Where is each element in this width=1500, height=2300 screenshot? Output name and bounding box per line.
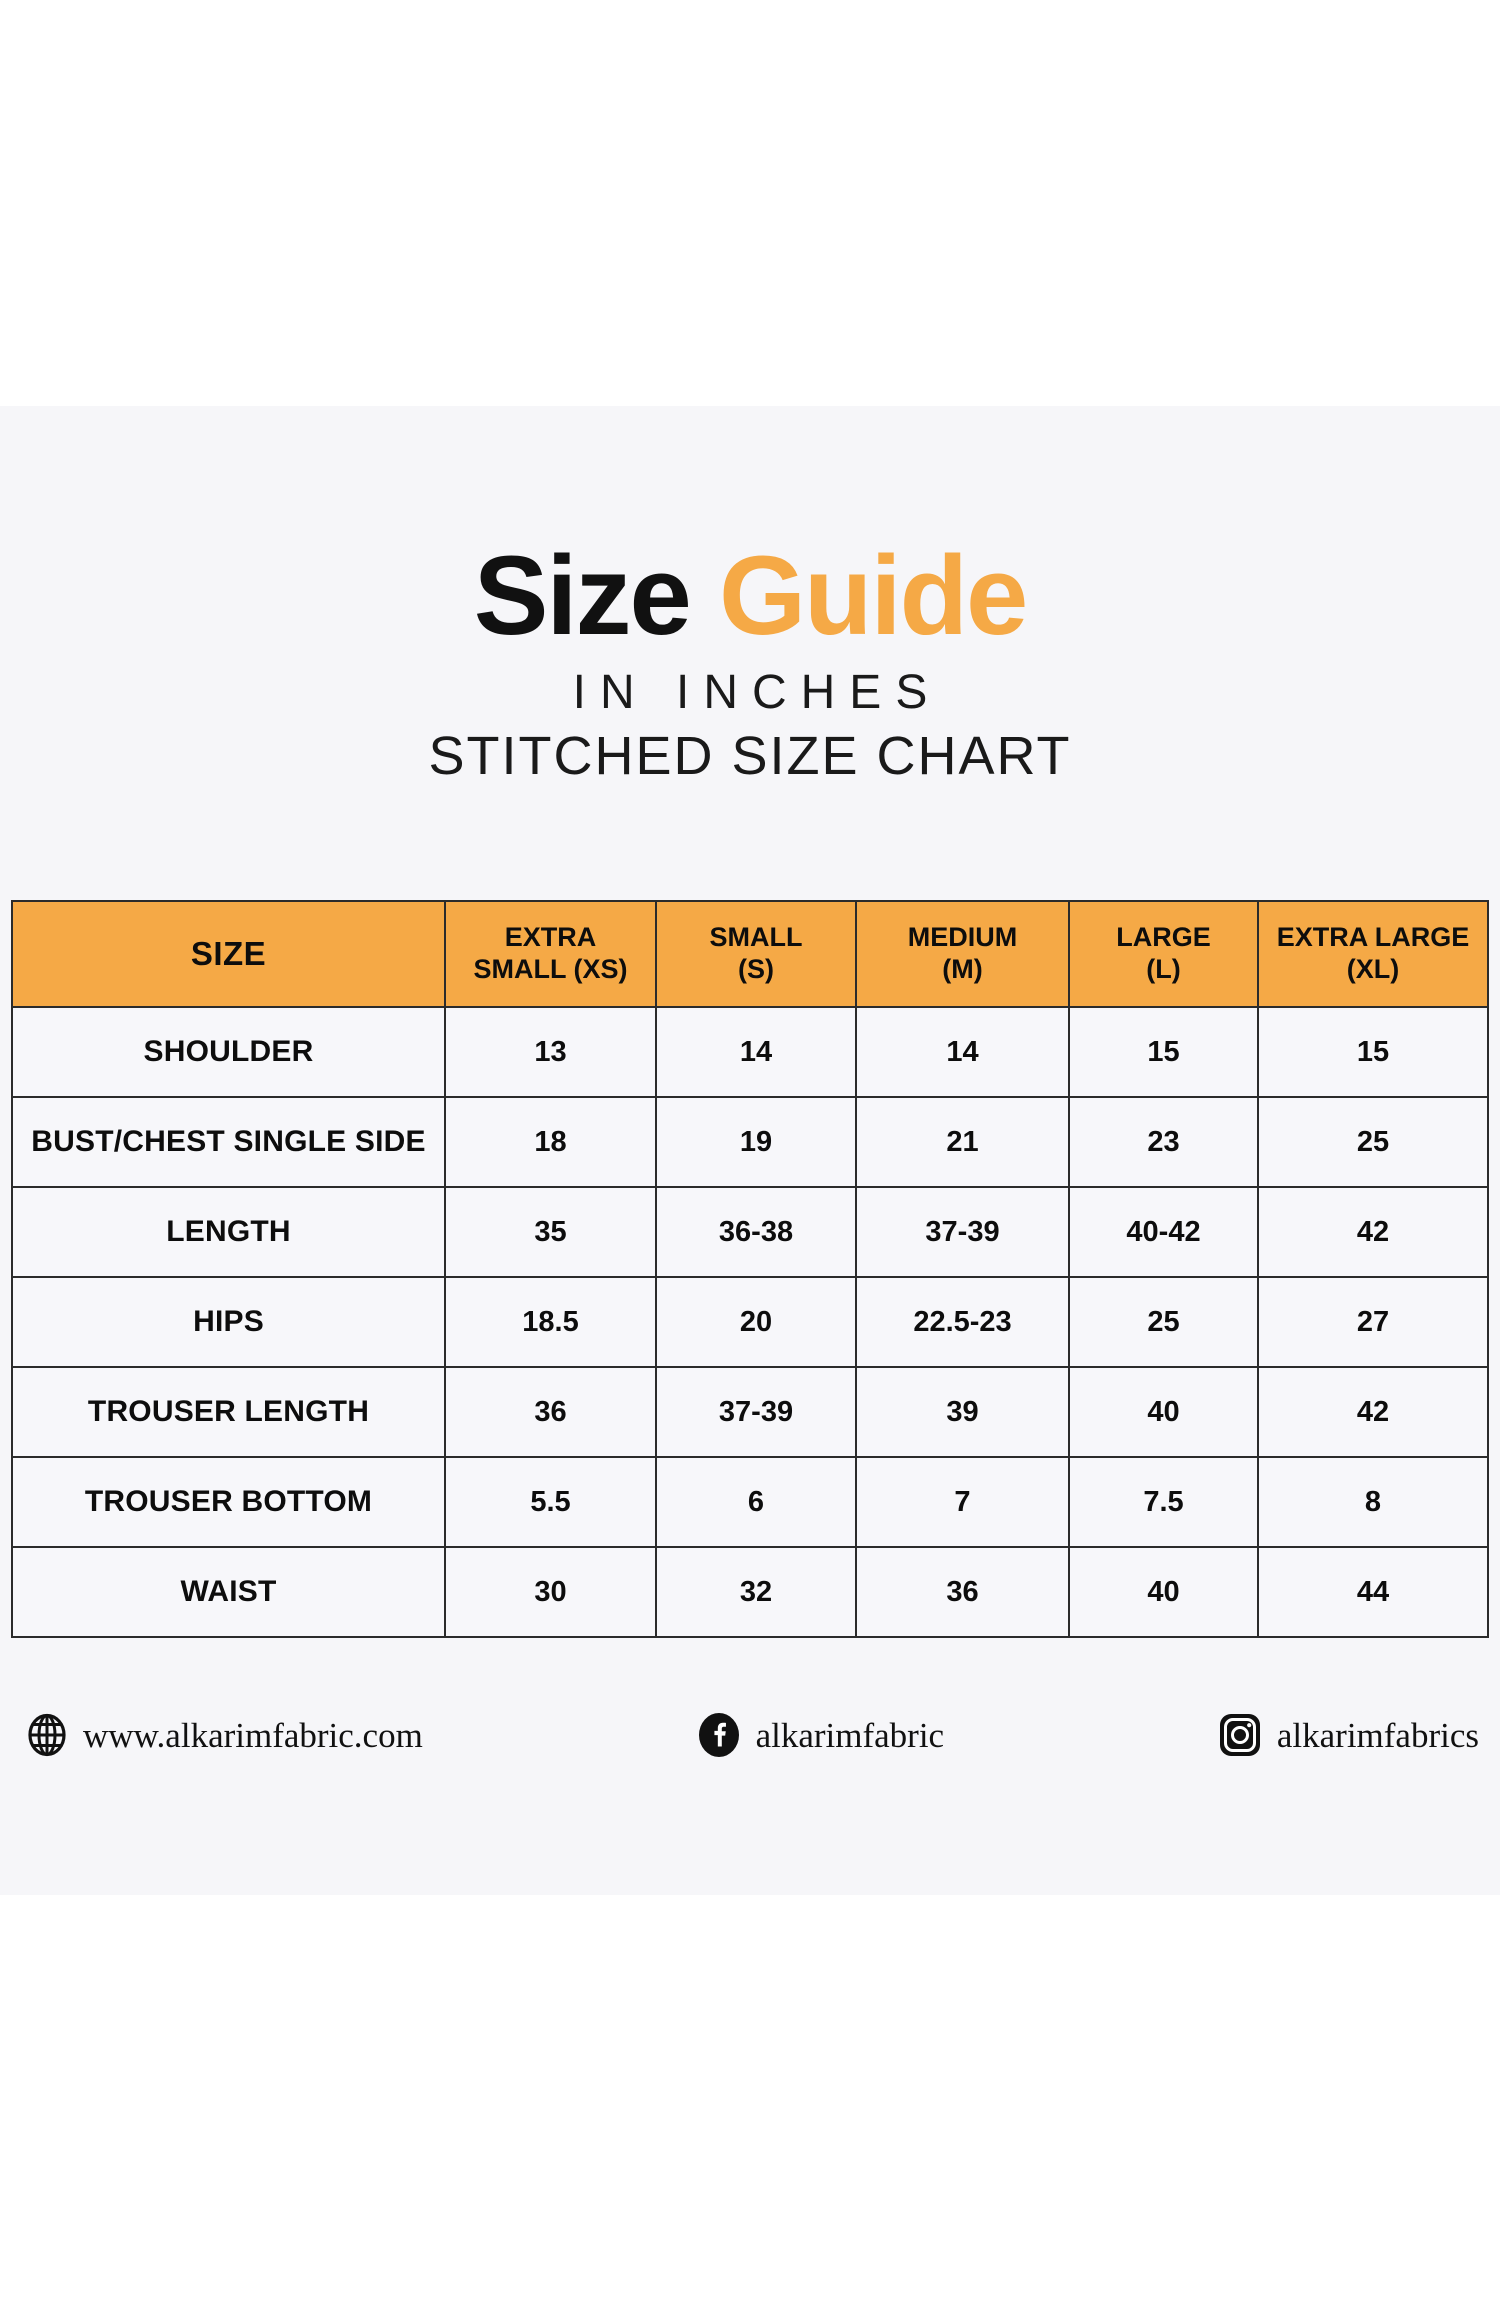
subtitle-units: IN INCHES [0, 668, 1500, 718]
row-label: TROUSER BOTTOM [12, 1457, 445, 1547]
row-label: TROUSER LENGTH [12, 1367, 445, 1457]
table-row: TROUSER BOTTOM5.5677.58 [12, 1457, 1488, 1547]
column-header-s-line2: (S) [738, 954, 774, 984]
measurement-cell: 6 [656, 1457, 856, 1547]
row-label: WAIST [12, 1547, 445, 1637]
footer-website[interactable]: www.alkarimfabric.com [25, 1713, 423, 1757]
measurement-cell: 37-39 [856, 1187, 1069, 1277]
measurement-cell: 32 [656, 1547, 856, 1637]
title-word-guide-text: Guide [719, 533, 1026, 658]
measurement-cell: 25 [1258, 1097, 1488, 1187]
title-word-guide [690, 533, 719, 658]
table-header: SIZE EXTRA SMALL (XS) SMALL (S) MEDIUM (… [12, 901, 1488, 1007]
column-header-l-line2: (L) [1146, 954, 1180, 984]
column-header-xs-line1: EXTRA [505, 922, 597, 952]
column-header-l: LARGE (L) [1069, 901, 1258, 1007]
measurement-cell: 36 [856, 1547, 1069, 1637]
measurement-cell: 25 [1069, 1277, 1258, 1367]
column-header-size: SIZE [12, 901, 445, 1007]
footer-facebook-text: alkarimfabric [756, 1718, 945, 1753]
measurement-cell: 14 [656, 1007, 856, 1097]
measurement-cell: 36 [445, 1367, 656, 1457]
table-row: WAIST3032364044 [12, 1547, 1488, 1637]
facebook-icon [696, 1712, 742, 1758]
measurement-cell: 40 [1069, 1547, 1258, 1637]
measurement-cell: 27 [1258, 1277, 1488, 1367]
measurement-cell: 18.5 [445, 1277, 656, 1367]
size-chart-table: SIZE EXTRA SMALL (XS) SMALL (S) MEDIUM (… [11, 900, 1489, 1638]
footer-facebook[interactable]: alkarimfabric [423, 1712, 1217, 1758]
column-header-l-line1: LARGE [1116, 922, 1211, 952]
measurement-cell: 40-42 [1069, 1187, 1258, 1277]
row-label: HIPS [12, 1277, 445, 1367]
measurement-cell: 7.5 [1069, 1457, 1258, 1547]
footer-instagram-text: alkarimfabrics [1277, 1718, 1479, 1753]
measurement-cell: 7 [856, 1457, 1069, 1547]
measurement-cell: 13 [445, 1007, 656, 1097]
column-header-xl-line2: (XL) [1347, 954, 1399, 984]
measurement-cell: 39 [856, 1367, 1069, 1457]
measurement-cell: 36-38 [656, 1187, 856, 1277]
column-header-size-label: SIZE [191, 935, 266, 972]
row-label: LENGTH [12, 1187, 445, 1277]
measurement-cell: 20 [656, 1277, 856, 1367]
column-header-m: MEDIUM (M) [856, 901, 1069, 1007]
title-word-size: Size [474, 533, 690, 658]
table-row: SHOULDER1314141515 [12, 1007, 1488, 1097]
column-header-m-line2: (M) [942, 954, 982, 984]
row-label: BUST/CHEST SINGLE SIDE [12, 1097, 445, 1187]
column-header-m-line1: MEDIUM [908, 922, 1018, 952]
column-header-xs: EXTRA SMALL (XS) [445, 901, 656, 1007]
column-header-s-line1: SMALL [710, 922, 803, 952]
column-header-s: SMALL (S) [656, 901, 856, 1007]
measurement-cell: 42 [1258, 1187, 1488, 1277]
page-title: Size Guide [0, 540, 1500, 652]
measurement-cell: 22.5-23 [856, 1277, 1069, 1367]
table-row: BUST/CHEST SINGLE SIDE1819212325 [12, 1097, 1488, 1187]
row-label: SHOULDER [12, 1007, 445, 1097]
column-header-xl: EXTRA LARGE (XL) [1258, 901, 1488, 1007]
subtitle-chart: STITCHED SIZE CHART [0, 728, 1500, 785]
measurement-cell: 19 [656, 1097, 856, 1187]
measurement-cell: 35 [445, 1187, 656, 1277]
footer: www.alkarimfabric.com alkarimfabric alka… [11, 1690, 1487, 1780]
measurement-cell: 5.5 [445, 1457, 656, 1547]
measurement-cell: 15 [1069, 1007, 1258, 1097]
footer-instagram[interactable]: alkarimfabrics [1217, 1712, 1479, 1758]
globe-icon [25, 1713, 69, 1757]
table-row: TROUSER LENGTH3637-39394042 [12, 1367, 1488, 1457]
measurement-cell: 37-39 [656, 1367, 856, 1457]
instagram-icon [1217, 1712, 1263, 1758]
measurement-cell: 8 [1258, 1457, 1488, 1547]
measurement-cell: 23 [1069, 1097, 1258, 1187]
measurement-cell: 21 [856, 1097, 1069, 1187]
table-row: LENGTH3536-3837-3940-4242 [12, 1187, 1488, 1277]
table-header-row: SIZE EXTRA SMALL (XS) SMALL (S) MEDIUM (… [12, 901, 1488, 1007]
column-header-xs-line2: SMALL (XS) [474, 954, 628, 984]
measurement-cell: 42 [1258, 1367, 1488, 1457]
measurement-cell: 40 [1069, 1367, 1258, 1457]
measurement-cell: 14 [856, 1007, 1069, 1097]
table-body: SHOULDER1314141515BUST/CHEST SINGLE SIDE… [12, 1007, 1488, 1637]
measurement-cell: 18 [445, 1097, 656, 1187]
column-header-xl-line1: EXTRA LARGE [1277, 922, 1470, 952]
table-row: HIPS18.52022.5-232527 [12, 1277, 1488, 1367]
measurement-cell: 30 [445, 1547, 656, 1637]
measurement-cell: 44 [1258, 1547, 1488, 1637]
size-guide-page: Size Guide IN INCHES STITCHED SIZE CHART… [0, 0, 1500, 2300]
title-block: Size Guide IN INCHES STITCHED SIZE CHART [0, 540, 1500, 785]
footer-website-text: www.alkarimfabric.com [83, 1718, 423, 1753]
measurement-cell: 15 [1258, 1007, 1488, 1097]
